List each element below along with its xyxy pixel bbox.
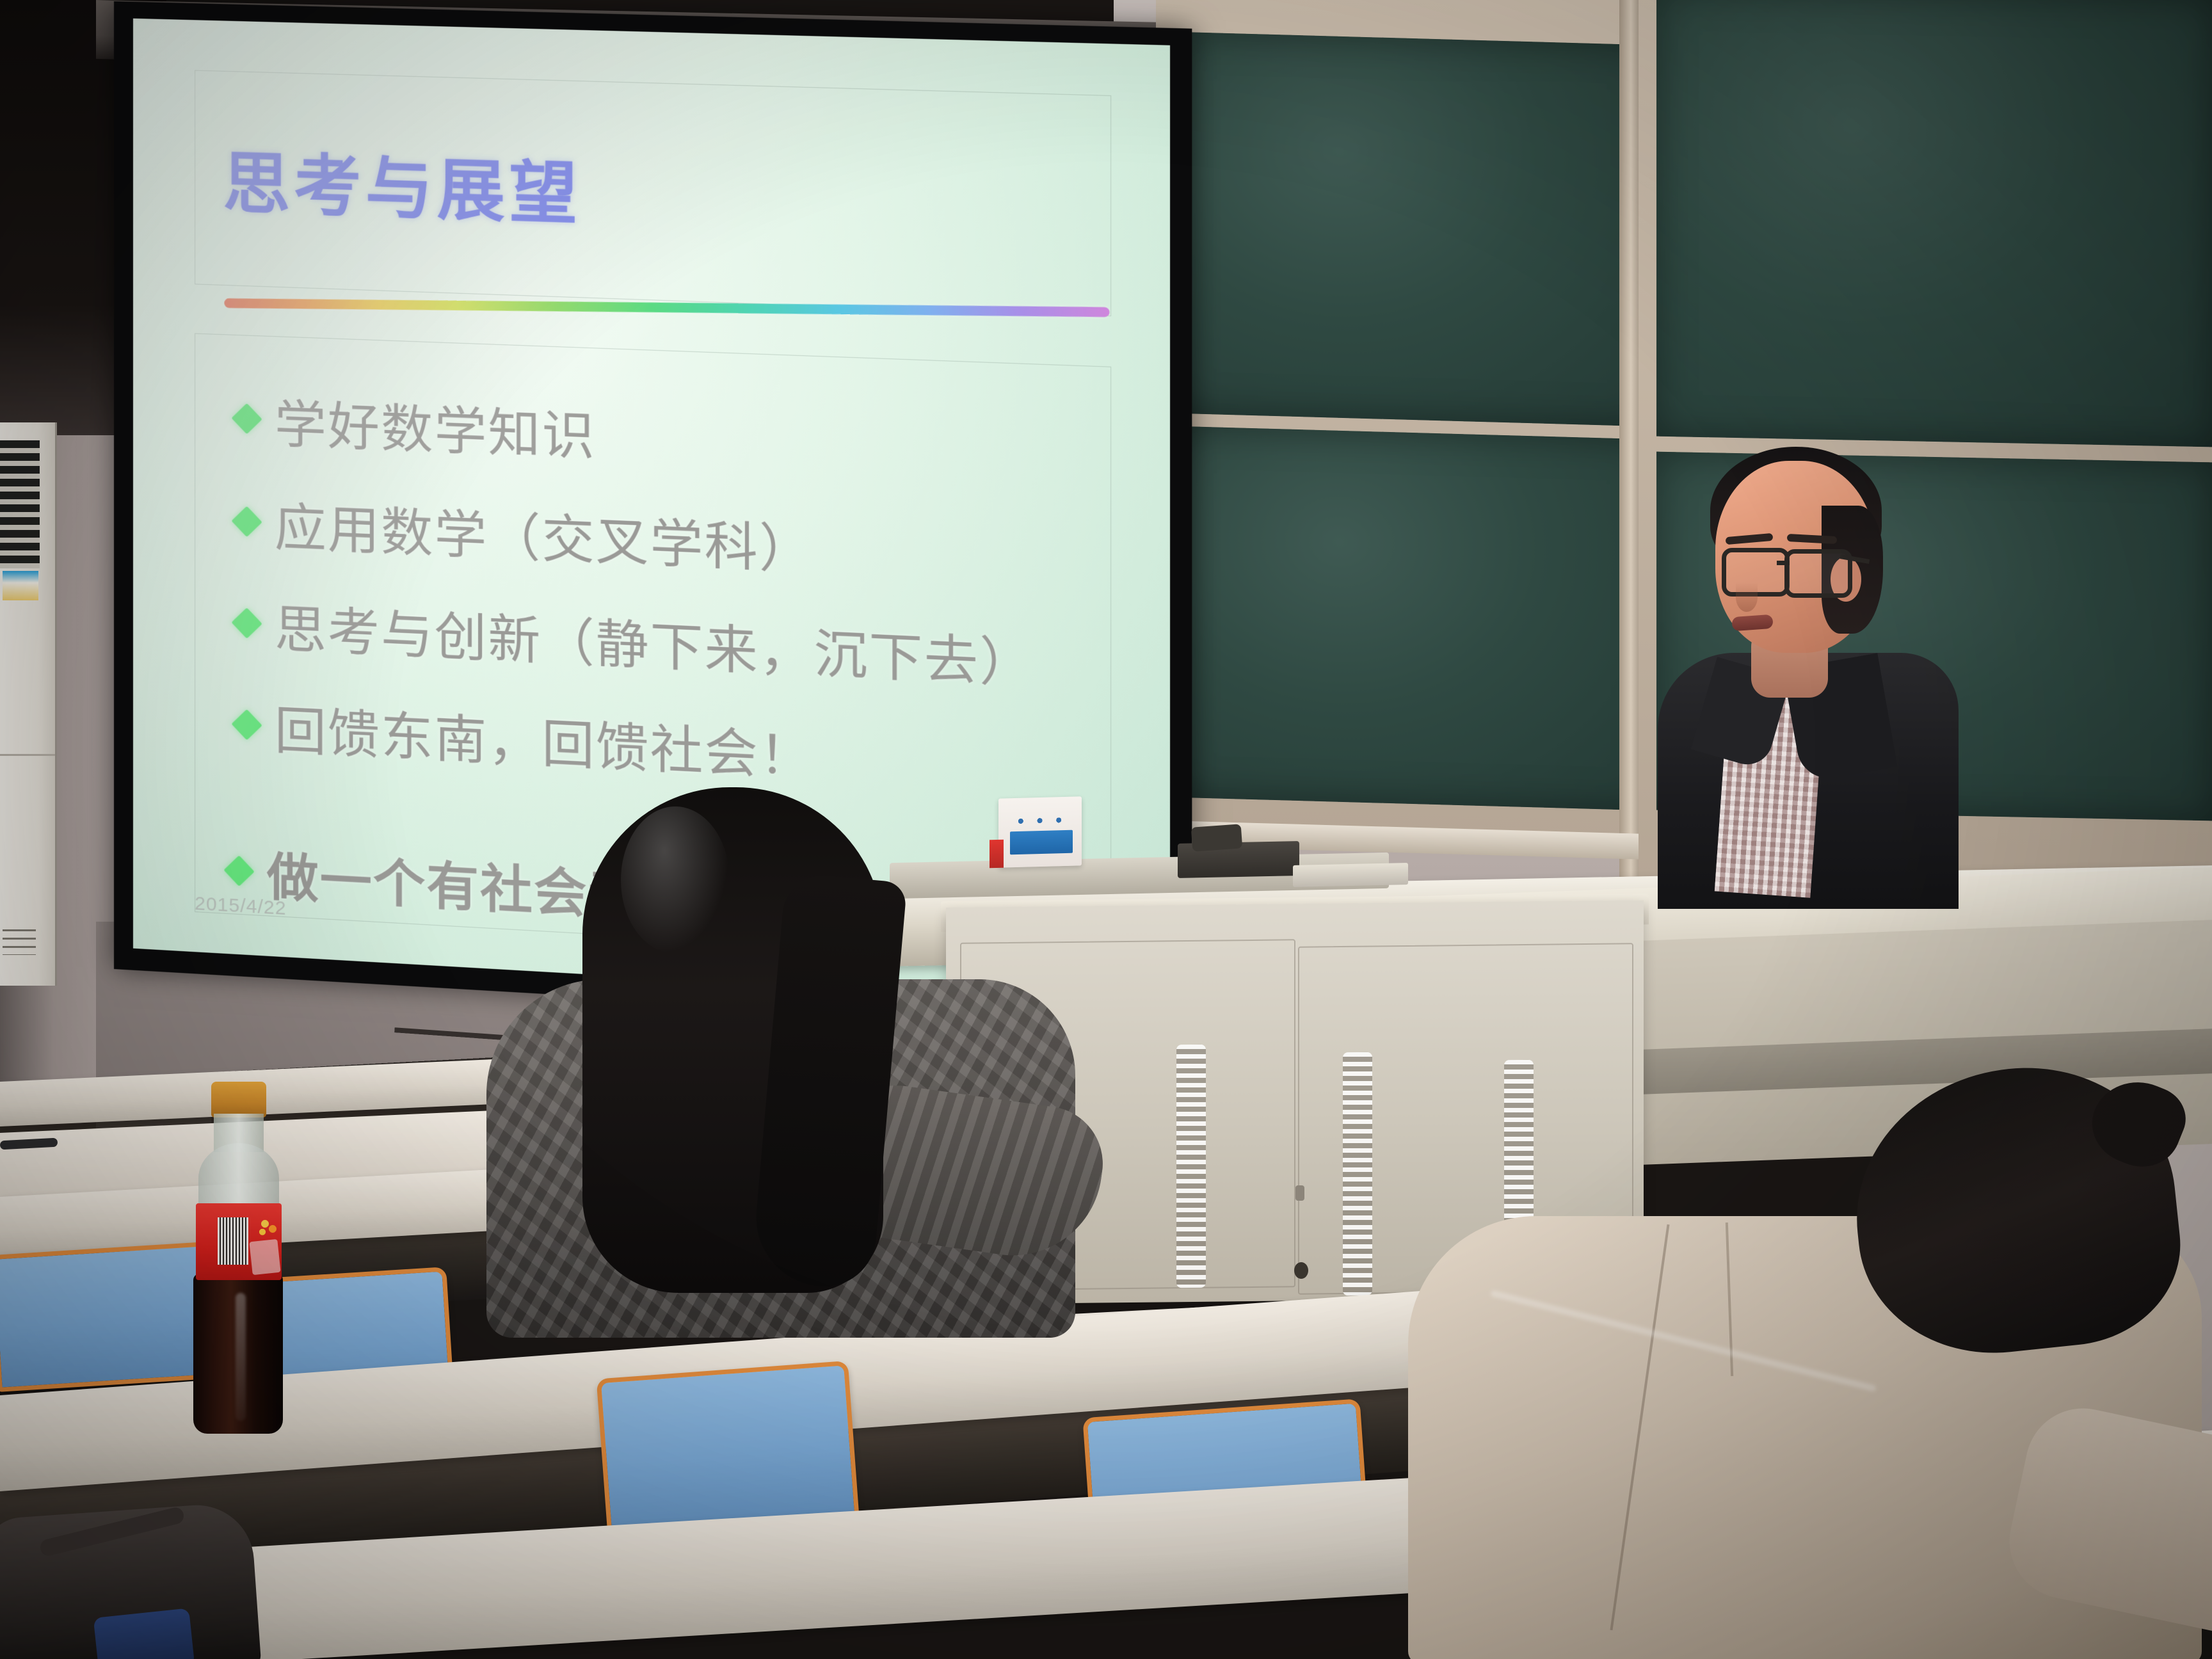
student-head-down-figure [1370,1062,2212,1659]
podium-keyhole [1294,1262,1308,1279]
air-conditioner-vents [3,929,36,955]
classroom-photo-scene: 思考与展望 学好数学知识 应用数学（交叉学科） 思考与创新（静下来，沉下去） 回… [0,0,2212,1659]
barcode-icon [218,1217,248,1265]
diamond-bullet-icon [223,855,254,886]
air-conditioner-grill [0,440,40,568]
cola-bottle[interactable] [184,1082,287,1440]
document-camera-arm [1191,824,1242,851]
blackboard-panel-upper-left [1171,31,1653,426]
air-conditioner-seam [0,754,55,756]
presenter-nose [1736,582,1758,612]
presenter-mouth [1731,614,1773,631]
bottle-cap [211,1082,266,1118]
podium-lock [1295,1185,1304,1201]
bottle-label-graphic [255,1214,280,1239]
blackboard-panel-upper-right [1656,0,2212,447]
bottle-label-stamp [249,1239,280,1275]
podium-vent [1343,1052,1372,1295]
diamond-bullet-icon [231,506,262,537]
presenter-figure [1639,435,1971,909]
slide-title: 思考与展望 [223,129,581,237]
air-conditioner-badge [3,571,38,600]
eyeglasses-bridge [1777,561,1790,565]
blackboard-panel-lower-left [1171,426,1653,810]
podium-vent [1176,1045,1206,1288]
slide-date-stamp: 2015/4/22 [195,893,286,920]
slide-bullet-item: 学好数学知识 [236,381,595,470]
slide-bullet-text: 学好数学知识 [275,383,596,470]
classroom-chair[interactable] [597,1361,860,1535]
diamond-bullet-icon [231,709,262,740]
student-hair-highlight [621,806,730,954]
av-control-panel [1293,863,1408,887]
student-long-hair-figure [486,787,1101,1338]
bottle-highlight [236,1293,246,1421]
diamond-bullet-icon [231,403,262,434]
diamond-bullet-icon [231,607,262,638]
